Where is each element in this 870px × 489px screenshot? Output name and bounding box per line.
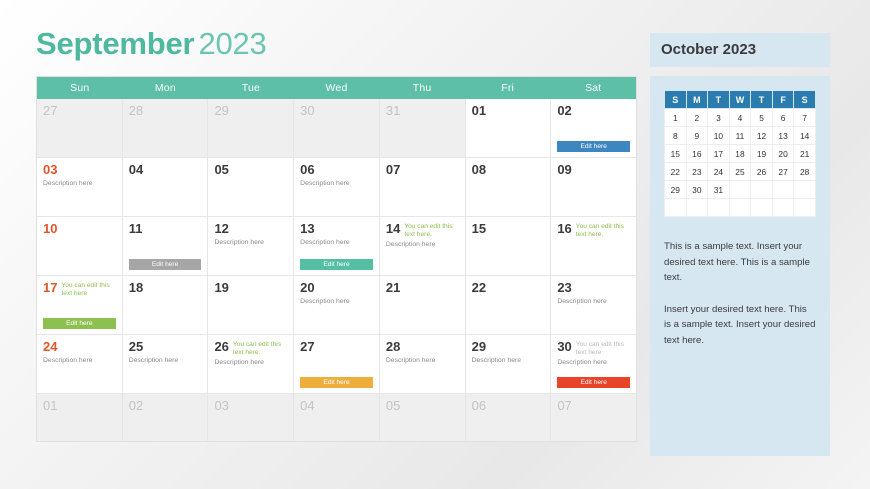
calendar-day-cell[interactable]: 06 <box>465 394 551 441</box>
day-number: 01 <box>472 104 486 118</box>
mini-calendar[interactable]: SMTWTFS 12345678910111213141516171819202… <box>664 90 816 217</box>
mini-calendar-day[interactable]: 14 <box>794 127 816 145</box>
day-number: 06 <box>472 399 486 413</box>
day-number: 02 <box>557 104 571 118</box>
calendar-day-cell[interactable]: 05 <box>207 158 293 216</box>
mini-weekday-header: S <box>665 91 687 109</box>
calendar-day-cell[interactable]: 30You can edit this text hereDescription… <box>550 335 636 393</box>
day-cell-top: 03 <box>43 163 117 177</box>
calendar-day-cell[interactable]: 06Description here <box>293 158 379 216</box>
day-cell-top: 24 <box>43 340 117 354</box>
edit-here-button[interactable]: Edit here <box>129 259 202 270</box>
day-cell-top: 11 <box>129 222 203 236</box>
day-number: 05 <box>386 399 400 413</box>
day-number: 06 <box>300 163 314 177</box>
day-number: 16 <box>557 222 571 236</box>
day-number: 12 <box>214 222 228 236</box>
day-number: 31 <box>386 104 400 118</box>
day-number: 22 <box>472 281 486 295</box>
day-cell-top: 01 <box>43 399 117 413</box>
day-cell-top: 02 <box>557 104 631 118</box>
day-number: 30 <box>300 104 314 118</box>
mini-calendar-day[interactable]: 2 <box>686 109 708 127</box>
calendar-day-cell[interactable]: 23Description here <box>550 276 636 334</box>
calendar-week-row: 24Description here25Description here26Yo… <box>37 334 636 393</box>
mini-calendar-header-row: SMTWTFS <box>665 91 816 109</box>
calendar-day-cell[interactable]: 22 <box>465 276 551 334</box>
mini-calendar-empty-cell <box>729 181 751 199</box>
day-number: 24 <box>43 340 57 354</box>
day-cell-top: 07 <box>386 163 460 177</box>
day-description: Description here <box>300 179 374 188</box>
day-description: Description here <box>472 356 546 365</box>
mini-calendar-day[interactable]: 4 <box>729 109 751 127</box>
day-description: Description here <box>386 240 460 249</box>
day-description: Description here <box>557 358 631 367</box>
mini-weekday-header: F <box>772 91 794 109</box>
day-number: 05 <box>214 163 228 177</box>
mini-calendar-day[interactable]: 31 <box>708 181 730 199</box>
mini-weekday-header: T <box>751 91 773 109</box>
calendar-day-cell[interactable]: 29 <box>207 99 293 157</box>
day-cell-top: 13 <box>300 222 374 236</box>
day-cell-top: 16You can edit this text here. <box>557 222 631 238</box>
mini-calendar-day[interactable]: 11 <box>729 127 751 145</box>
day-number: 28 <box>386 340 400 354</box>
day-cell-top: 28 <box>386 340 460 354</box>
calendar-day-cell[interactable]: 14You can edit this text here.Descriptio… <box>379 217 465 275</box>
calendar-day-cell[interactable]: 08 <box>465 158 551 216</box>
mini-calendar-day[interactable]: 25 <box>729 163 751 181</box>
edit-here-button[interactable]: Edit here <box>557 141 630 152</box>
mini-calendar-empty-cell <box>751 181 773 199</box>
day-number: 04 <box>129 163 143 177</box>
calendar-day-cell[interactable]: 20Description here <box>293 276 379 334</box>
mini-calendar-day[interactable]: 17 <box>708 145 730 163</box>
day-number: 01 <box>43 399 57 413</box>
day-number: 07 <box>386 163 400 177</box>
mini-calendar-day[interactable]: 29 <box>665 181 687 199</box>
day-number: 14 <box>386 222 400 236</box>
calendar-week-row: 27282930310102Edit here <box>37 99 636 157</box>
mini-calendar-day[interactable]: 21 <box>794 145 816 163</box>
mini-calendar-day[interactable]: 15 <box>665 145 687 163</box>
mini-calendar-day[interactable]: 10 <box>708 127 730 145</box>
day-cell-top: 05 <box>386 399 460 413</box>
calendar-day-cell[interactable]: 04 <box>122 158 208 216</box>
day-description: Description here <box>43 179 117 188</box>
day-cell-top: 12 <box>214 222 288 236</box>
calendar-day-cell[interactable]: 07 <box>550 394 636 441</box>
calendar-day-cell[interactable]: 10 <box>37 217 122 275</box>
day-cell-top: 27 <box>43 104 117 118</box>
day-number: 30 <box>557 340 571 354</box>
calendar-day-cell[interactable]: 27Edit here <box>293 335 379 393</box>
weekday-header-wed: Wed <box>294 77 380 99</box>
day-cell-top: 04 <box>300 399 374 413</box>
day-number: 19 <box>214 281 228 295</box>
calendar-day-cell[interactable]: 02Edit here <box>550 99 636 157</box>
day-cell-top: 26You can edit this text here. <box>214 340 288 356</box>
calendar-day-cell[interactable]: 05 <box>379 394 465 441</box>
mini-calendar-day[interactable]: 26 <box>751 163 773 181</box>
sidebar-title: October 2023 <box>650 33 830 67</box>
day-number: 29 <box>214 104 228 118</box>
day-number: 08 <box>472 163 486 177</box>
weekday-header-thu: Thu <box>379 77 465 99</box>
mini-calendar-week-row <box>665 199 816 217</box>
day-note: You can edit this text here. <box>576 222 631 238</box>
day-cell-top: 08 <box>472 163 546 177</box>
day-number: 23 <box>557 281 571 295</box>
mini-calendar-week-row: 22232425262728 <box>665 163 816 181</box>
mini-calendar-day[interactable]: 13 <box>772 127 794 145</box>
day-description: Description here <box>214 358 288 367</box>
edit-here-button[interactable]: Edit here <box>300 259 373 270</box>
day-number: 21 <box>386 281 400 295</box>
calendar-day-cell[interactable]: 01 <box>37 394 122 441</box>
day-note: You can edit this text here. <box>404 222 459 238</box>
day-cell-top: 01 <box>472 104 546 118</box>
day-cell-top: 18 <box>129 281 203 295</box>
calendar-day-cell[interactable]: 29Description here <box>465 335 551 393</box>
day-note: You can edit this text here <box>61 281 116 297</box>
mini-calendar-day[interactable]: 6 <box>772 109 794 127</box>
mini-calendar-week-row: 293031 <box>665 181 816 199</box>
mini-weekday-header: S <box>794 91 816 109</box>
mini-calendar-day[interactable]: 8 <box>665 127 687 145</box>
mini-calendar-day[interactable]: 5 <box>751 109 773 127</box>
calendar-week-row: 03Description here040506Description here… <box>37 157 636 216</box>
weekday-header-tue: Tue <box>208 77 294 99</box>
day-cell-top: 05 <box>214 163 288 177</box>
day-number: 27 <box>43 104 57 118</box>
page-title: September2023 <box>36 25 267 63</box>
mini-calendar-empty-cell <box>751 199 773 217</box>
mini-calendar-day[interactable]: 18 <box>729 145 751 163</box>
day-description: Description here <box>300 297 374 306</box>
mini-calendar-day[interactable]: 7 <box>794 109 816 127</box>
day-number: 03 <box>43 163 57 177</box>
day-cell-top: 22 <box>472 281 546 295</box>
mini-calendar-body: 1234567891011121314151617181920212223242… <box>665 109 816 217</box>
day-number: 02 <box>129 399 143 413</box>
weekday-header-fri: Fri <box>465 77 551 99</box>
weekday-header-sat: Sat <box>550 77 636 99</box>
mini-calendar-day[interactable]: 30 <box>686 181 708 199</box>
mini-calendar-day[interactable]: 16 <box>686 145 708 163</box>
calendar-slide: September2023 SunMonTueWedThuFriSat 2728… <box>0 0 870 489</box>
day-cell-top: 21 <box>386 281 460 295</box>
mini-calendar-week-row: 15161718192021 <box>665 145 816 163</box>
mini-weekday-header: T <box>708 91 730 109</box>
day-description: Description here <box>214 238 288 247</box>
day-cell-top: 28 <box>129 104 203 118</box>
day-number: 03 <box>214 399 228 413</box>
weekday-header-row: SunMonTueWedThuFriSat <box>37 77 636 99</box>
mini-calendar-day[interactable]: 12 <box>751 127 773 145</box>
mini-calendar-day[interactable]: 1 <box>665 109 687 127</box>
sidebar-panel: SMTWTFS 12345678910111213141516171819202… <box>650 76 830 456</box>
day-cell-top: 27 <box>300 340 374 354</box>
day-cell-top: 07 <box>557 399 631 413</box>
mini-calendar-day[interactable]: 3 <box>708 109 730 127</box>
edit-here-button[interactable]: Edit here <box>43 318 116 329</box>
calendar-body: 27282930310102Edit here03Description her… <box>37 99 636 441</box>
day-cell-top: 06 <box>300 163 374 177</box>
mini-calendar-day[interactable]: 22 <box>665 163 687 181</box>
calendar-day-cell[interactable]: 16You can edit this text here. <box>550 217 636 275</box>
mini-calendar-day[interactable]: 19 <box>751 145 773 163</box>
sidebar-paragraph-2: Insert your desired text here. This is a… <box>664 302 816 349</box>
day-number: 17 <box>43 281 57 295</box>
calendar-day-cell[interactable]: 30 <box>293 99 379 157</box>
calendar-day-cell[interactable]: 26You can edit this text here.Descriptio… <box>207 335 293 393</box>
day-cell-top: 23 <box>557 281 631 295</box>
calendar-day-cell[interactable]: 03Description here <box>37 158 122 216</box>
sidebar-paragraph-1: This is a sample text. Insert your desir… <box>664 239 816 286</box>
day-number: 09 <box>557 163 571 177</box>
day-cell-top: 17You can edit this text here <box>43 281 117 297</box>
mini-calendar-day[interactable]: 9 <box>686 127 708 145</box>
calendar-week-row: 01020304050607 <box>37 393 636 441</box>
day-cell-top: 20 <box>300 281 374 295</box>
day-number: 07 <box>557 399 571 413</box>
calendar-day-cell[interactable]: 19 <box>207 276 293 334</box>
day-number: 26 <box>214 340 228 354</box>
day-cell-top: 04 <box>129 163 203 177</box>
month-calendar: SunMonTueWedThuFriSat 27282930310102Edit… <box>36 76 637 442</box>
calendar-day-cell[interactable]: 18 <box>122 276 208 334</box>
sidebar-title-block: October 2023 <box>650 33 830 67</box>
calendar-day-cell[interactable]: 21 <box>379 276 465 334</box>
day-cell-top: 15 <box>472 222 546 236</box>
calendar-day-cell[interactable]: 15 <box>465 217 551 275</box>
day-number: 29 <box>472 340 486 354</box>
day-cell-top: 30You can edit this text here <box>557 340 631 356</box>
calendar-day-cell[interactable]: 09 <box>550 158 636 216</box>
day-cell-top: 19 <box>214 281 288 295</box>
weekday-header-sun: Sun <box>37 77 123 99</box>
calendar-day-cell[interactable]: 28Description here <box>379 335 465 393</box>
mini-calendar-week-row: 1234567 <box>665 109 816 127</box>
day-cell-top: 25 <box>129 340 203 354</box>
mini-calendar-empty-cell <box>665 199 687 217</box>
mini-calendar-empty-cell <box>772 199 794 217</box>
day-description: Description here <box>300 238 374 247</box>
mini-calendar-day[interactable]: 24 <box>708 163 730 181</box>
calendar-day-cell[interactable]: 24Description here <box>37 335 122 393</box>
day-cell-top: 29 <box>472 340 546 354</box>
day-number: 10 <box>43 222 57 236</box>
calendar-day-cell[interactable]: 01 <box>465 99 551 157</box>
day-number: 25 <box>129 340 143 354</box>
day-cell-top: 02 <box>129 399 203 413</box>
day-description: Description here <box>129 356 203 365</box>
mini-calendar-empty-cell <box>794 181 816 199</box>
mini-calendar-week-row: 891011121314 <box>665 127 816 145</box>
edit-here-button[interactable]: Edit here <box>557 377 630 388</box>
mini-calendar-day[interactable]: 27 <box>772 163 794 181</box>
calendar-day-cell[interactable]: 25Description here <box>122 335 208 393</box>
day-note: You can edit this text here <box>576 340 631 356</box>
day-number: 11 <box>129 222 143 236</box>
mini-calendar-empty-cell <box>794 199 816 217</box>
day-cell-top: 30 <box>300 104 374 118</box>
calendar-day-cell[interactable]: 03 <box>207 394 293 441</box>
calendar-day-cell[interactable]: 07 <box>379 158 465 216</box>
mini-calendar-empty-cell <box>729 199 751 217</box>
weekday-header-mon: Mon <box>123 77 209 99</box>
day-cell-top: 10 <box>43 222 117 236</box>
mini-calendar-empty-cell <box>686 199 708 217</box>
day-number: 28 <box>129 104 143 118</box>
mini-calendar-day[interactable]: 28 <box>794 163 816 181</box>
day-cell-top: 03 <box>214 399 288 413</box>
day-description: Description here <box>43 356 117 365</box>
calendar-week-row: 17You can edit this text hereEdit here18… <box>37 275 636 334</box>
mini-weekday-header: W <box>729 91 751 109</box>
page-title-month: September <box>36 26 194 61</box>
calendar-day-cell[interactable]: 28 <box>122 99 208 157</box>
calendar-day-cell[interactable]: 13Description hereEdit here <box>293 217 379 275</box>
mini-calendar-day[interactable]: 23 <box>686 163 708 181</box>
calendar-week-row: 1011Edit here12Description here13Descrip… <box>37 216 636 275</box>
calendar-day-cell[interactable]: 02 <box>122 394 208 441</box>
calendar-day-cell[interactable]: 17You can edit this text hereEdit here <box>37 276 122 334</box>
calendar-day-cell[interactable]: 04 <box>293 394 379 441</box>
day-number: 04 <box>300 399 314 413</box>
mini-weekday-header: M <box>686 91 708 109</box>
calendar-day-cell[interactable]: 31 <box>379 99 465 157</box>
day-cell-top: 31 <box>386 104 460 118</box>
mini-calendar-empty-cell <box>708 199 730 217</box>
mini-calendar-day[interactable]: 20 <box>772 145 794 163</box>
day-cell-top: 14You can edit this text here. <box>386 222 460 238</box>
day-cell-top: 09 <box>557 163 631 177</box>
day-cell-top: 29 <box>214 104 288 118</box>
calendar-day-cell[interactable]: 12Description here <box>207 217 293 275</box>
day-description: Description here <box>386 356 460 365</box>
day-number: 20 <box>300 281 314 295</box>
page-title-year: 2023 <box>198 26 266 61</box>
mini-calendar-empty-cell <box>772 181 794 199</box>
day-number: 13 <box>300 222 314 236</box>
day-number: 18 <box>129 281 143 295</box>
calendar-day-cell[interactable]: 27 <box>37 99 122 157</box>
day-cell-top: 06 <box>472 399 546 413</box>
edit-here-button[interactable]: Edit here <box>300 377 373 388</box>
day-description: Description here <box>557 297 631 306</box>
day-number: 27 <box>300 340 314 354</box>
calendar-day-cell[interactable]: 11Edit here <box>122 217 208 275</box>
day-number: 15 <box>472 222 486 236</box>
day-note: You can edit this text here. <box>233 340 288 356</box>
